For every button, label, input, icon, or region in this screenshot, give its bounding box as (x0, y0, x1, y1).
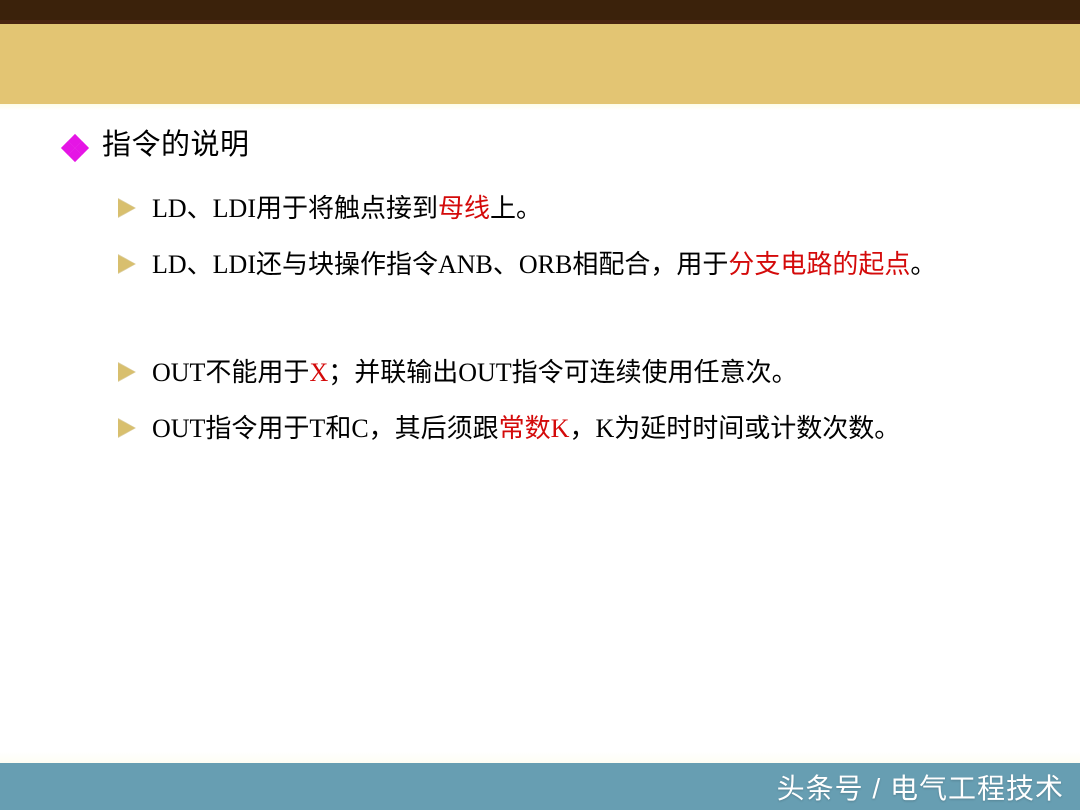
bullet-2-segment-a: LD、LDI还与块操作指令ANB、ORB相配合，用于 (152, 250, 728, 279)
bullet-4-segment-a: OUT指令用于T和C，其后须跟 (152, 414, 499, 443)
arrowhead-bullet-icon (118, 197, 140, 223)
heading-row: 指令的说明 (62, 128, 250, 166)
footer-fade (0, 752, 1080, 763)
bullet-item-4: OUT指令用于T和C，其后须跟常数K，K为延时时间或计数次数。 (118, 408, 1008, 450)
bullet-2-highlight: 分支电路的起点 (728, 250, 910, 279)
bullet-item-2: LD、LDI还与块操作指令ANB、ORB相配合，用于分支电路的起点。 (118, 244, 1008, 286)
bullet-3-text: OUT不能用于X；并联输出OUT指令可连续使用任意次。 (152, 352, 798, 394)
slide-content: 指令的说明 LD、LDI用于将触点接到母线上。 LD、LDI还与块操作指令ANB… (0, 110, 1080, 760)
bullet-4-highlight: 常数K (499, 414, 570, 443)
bullet-3-segment-c: ；并联输出OUT指令可连续使用任意次。 (328, 358, 797, 387)
bullet-4-segment-c: ，K为延时时间或计数次数。 (569, 414, 900, 443)
bullet-2-text: LD、LDI还与块操作指令ANB、ORB相配合，用于分支电路的起点。 (152, 244, 936, 286)
bullet-4-text: OUT指令用于T和C，其后须跟常数K，K为延时时间或计数次数。 (152, 408, 900, 450)
title-gold-band (0, 24, 1080, 104)
bullet-item-1: LD、LDI用于将触点接到母线上。 (118, 188, 1008, 230)
bullet-1-segment-a: LD、LDI用于将触点接到 (152, 194, 438, 223)
heading-text: 指令的说明 (102, 128, 250, 162)
arrowhead-bullet-icon (118, 361, 140, 387)
bullet-1-highlight: 母线 (438, 194, 490, 223)
bullet-3-segment-a: OUT不能用于 (152, 358, 309, 387)
bullet-item-3: OUT不能用于X；并联输出OUT指令可连续使用任意次。 (118, 352, 1008, 394)
bullet-1-segment-c: 上。 (490, 194, 542, 223)
footer-bar: 头条号 / 电气工程技术 (0, 763, 1080, 810)
slide-canvas: 指令的说明 LD、LDI用于将触点接到母线上。 LD、LDI还与块操作指令ANB… (0, 0, 1080, 810)
bullet-2-segment-c: 。 (910, 250, 936, 279)
arrowhead-bullet-icon (118, 417, 140, 443)
diamond-cluster-icon (62, 136, 90, 166)
footer-watermark-text: 头条号 / 电气工程技术 (777, 767, 1080, 807)
bullet-1-text: LD、LDI用于将触点接到母线上。 (152, 188, 542, 230)
bullet-3-highlight: X (309, 358, 328, 387)
top-dark-band (0, 0, 1080, 20)
arrowhead-bullet-icon (118, 253, 140, 279)
